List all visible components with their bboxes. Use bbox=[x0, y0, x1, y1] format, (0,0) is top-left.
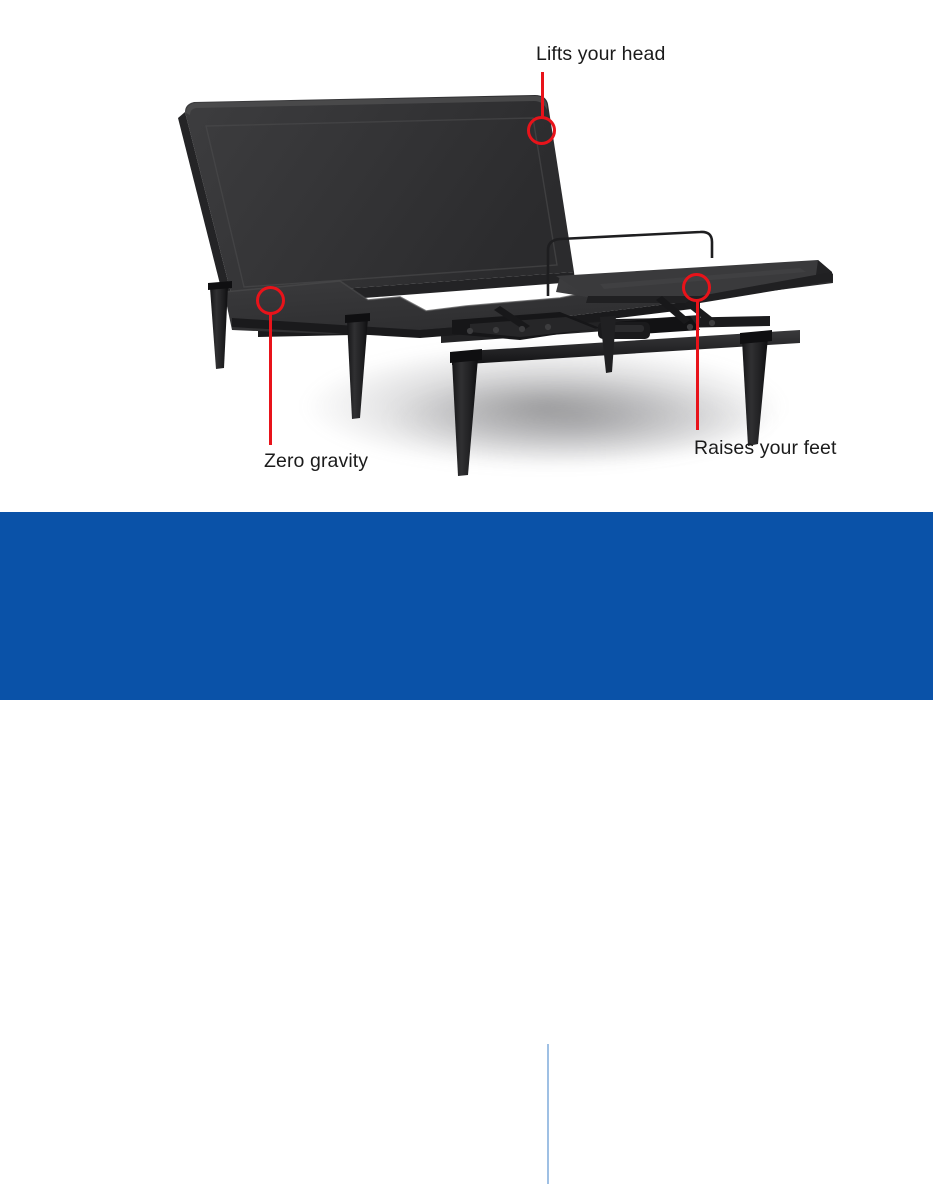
callout-line-lifts-your-head bbox=[541, 72, 544, 117]
headline-line-1: COMPLETE YOUR bbox=[96, 1045, 379, 1078]
callout-line-zero-gravity bbox=[269, 313, 272, 445]
product-photo: Lifts your head Zero gravity Raises your… bbox=[0, 0, 933, 512]
banner-subcopy: Pair your mattress with an adjustable ba… bbox=[594, 1045, 898, 1169]
subcopy-line-1: Pair your mattress bbox=[594, 1045, 898, 1076]
callout-label-raises-your-feet: Raises your feet bbox=[694, 437, 837, 460]
subcopy-line-3: base for maximum bbox=[594, 1107, 898, 1138]
promo-banner-image: Lifts your head Zero gravity Raises your… bbox=[0, 0, 933, 700]
headline-line-2: SLEEP SYSTEM WITH bbox=[96, 1078, 379, 1111]
callout-ring-raises-your-feet bbox=[682, 273, 711, 302]
callout-ring-zero-gravity bbox=[256, 286, 285, 315]
banner-headline: COMPLETE YOUR SLEEP SYSTEM WITH A POWER … bbox=[96, 1045, 379, 1144]
callout-label-zero-gravity: Zero gravity bbox=[264, 450, 368, 473]
adjustable-bed-base-illustration bbox=[0, 0, 933, 512]
banner-vertical-divider bbox=[547, 1044, 549, 1184]
head-section bbox=[178, 95, 575, 308]
callout-ring-lifts-your-head bbox=[527, 116, 556, 145]
headline-line-3: A POWER BASE. bbox=[96, 1111, 379, 1144]
callout-line-raises-your-feet bbox=[696, 300, 699, 430]
blue-cta-banner: COMPLETE YOUR SLEEP SYSTEM WITH A POWER … bbox=[0, 512, 933, 700]
subcopy-line-4: all-night support. bbox=[594, 1138, 898, 1169]
callout-label-lifts-your-head: Lifts your head bbox=[536, 43, 665, 66]
subcopy-line-2: with an adjustable bbox=[594, 1076, 898, 1107]
